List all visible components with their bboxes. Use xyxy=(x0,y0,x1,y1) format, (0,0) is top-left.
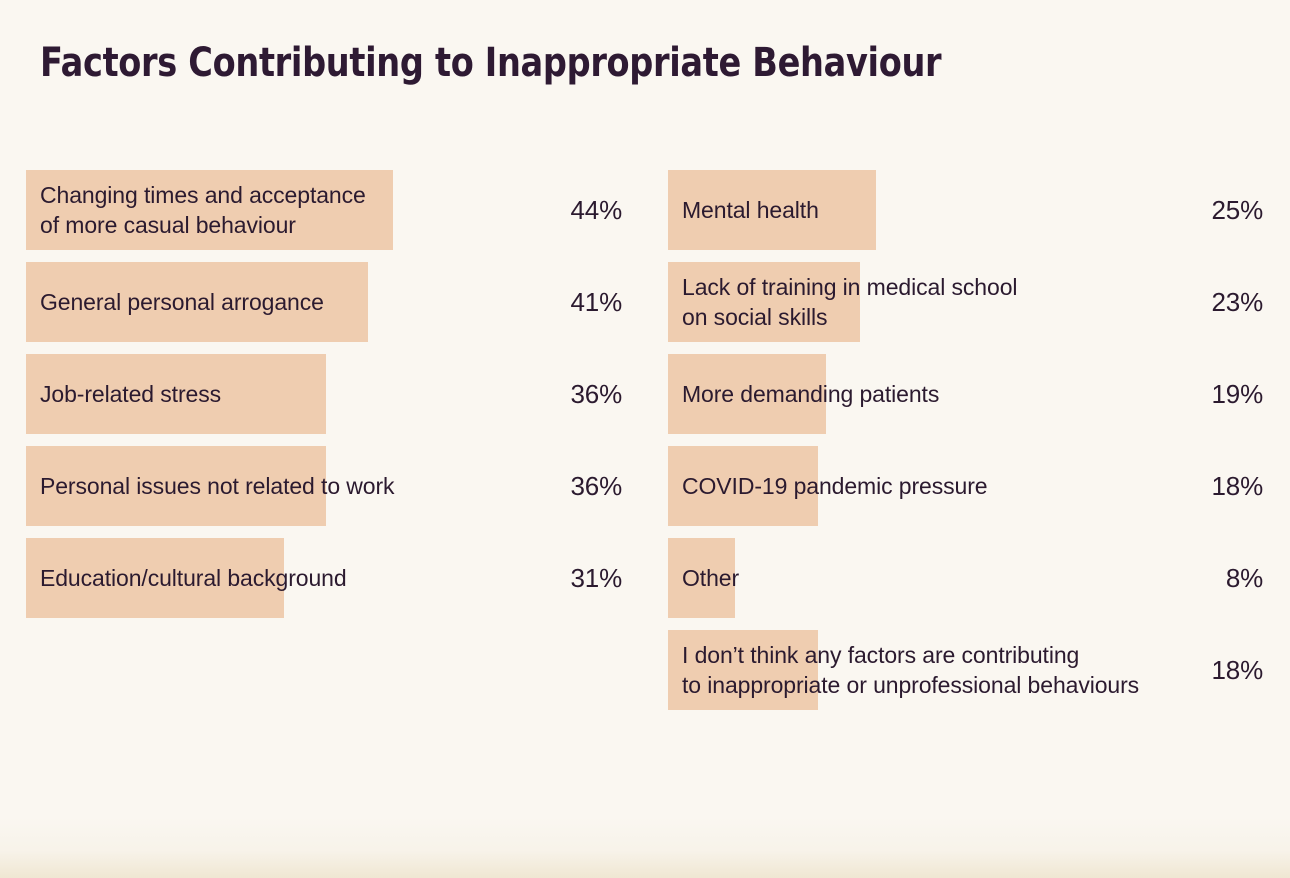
bar-value: 44% xyxy=(512,170,622,250)
bar-row: Changing times and acceptance of more ca… xyxy=(26,170,622,262)
bar-row: Job-related stress36% xyxy=(26,354,622,446)
bar-label: I don’t think any factors are contributi… xyxy=(682,630,1139,710)
bar-row: Lack of training in medical school on so… xyxy=(668,262,1263,354)
bar-label: COVID-19 pandemic pressure xyxy=(682,446,987,526)
bar-value: 19% xyxy=(1153,354,1263,434)
bar-value: 36% xyxy=(512,354,622,434)
bar-label: More demanding patients xyxy=(682,354,939,434)
bar-value: 18% xyxy=(1153,446,1263,526)
bar-value: 8% xyxy=(1153,538,1263,618)
bar-value: 36% xyxy=(512,446,622,526)
bar-label: Personal issues not related to work xyxy=(40,446,394,526)
page-title: Factors Contributing to Inappropriate Be… xyxy=(40,40,941,86)
bar-row: Education/cultural background31% xyxy=(26,538,622,630)
chart-page: Factors Contributing to Inappropriate Be… xyxy=(0,0,1290,878)
bar-label: Changing times and acceptance of more ca… xyxy=(40,170,366,250)
bar-label: General personal arrogance xyxy=(40,262,324,342)
bar-column-left: Changing times and acceptance of more ca… xyxy=(26,170,622,630)
bar-label: Job-related stress xyxy=(40,354,221,434)
bar-row: COVID-19 pandemic pressure18% xyxy=(668,446,1263,538)
bar-value: 25% xyxy=(1153,170,1263,250)
bar-row: Mental health25% xyxy=(668,170,1263,262)
bar-row: Other8% xyxy=(668,538,1263,630)
bar-row: Personal issues not related to work36% xyxy=(26,446,622,538)
bar-label: Mental health xyxy=(682,170,819,250)
bar-row: I don’t think any factors are contributi… xyxy=(668,630,1263,722)
bar-column-right: Mental health25%Lack of training in medi… xyxy=(668,170,1263,722)
bar-label: Other xyxy=(682,538,739,618)
bar-label: Education/cultural background xyxy=(40,538,347,618)
bar-row: More demanding patients19% xyxy=(668,354,1263,446)
bar-value: 18% xyxy=(1153,630,1263,710)
bar-row: General personal arrogance41% xyxy=(26,262,622,354)
bar-label: Lack of training in medical school on so… xyxy=(682,262,1017,342)
bar-value: 23% xyxy=(1153,262,1263,342)
bar-value: 31% xyxy=(512,538,622,618)
bar-value: 41% xyxy=(512,262,622,342)
bottom-gradient-band xyxy=(0,818,1290,878)
